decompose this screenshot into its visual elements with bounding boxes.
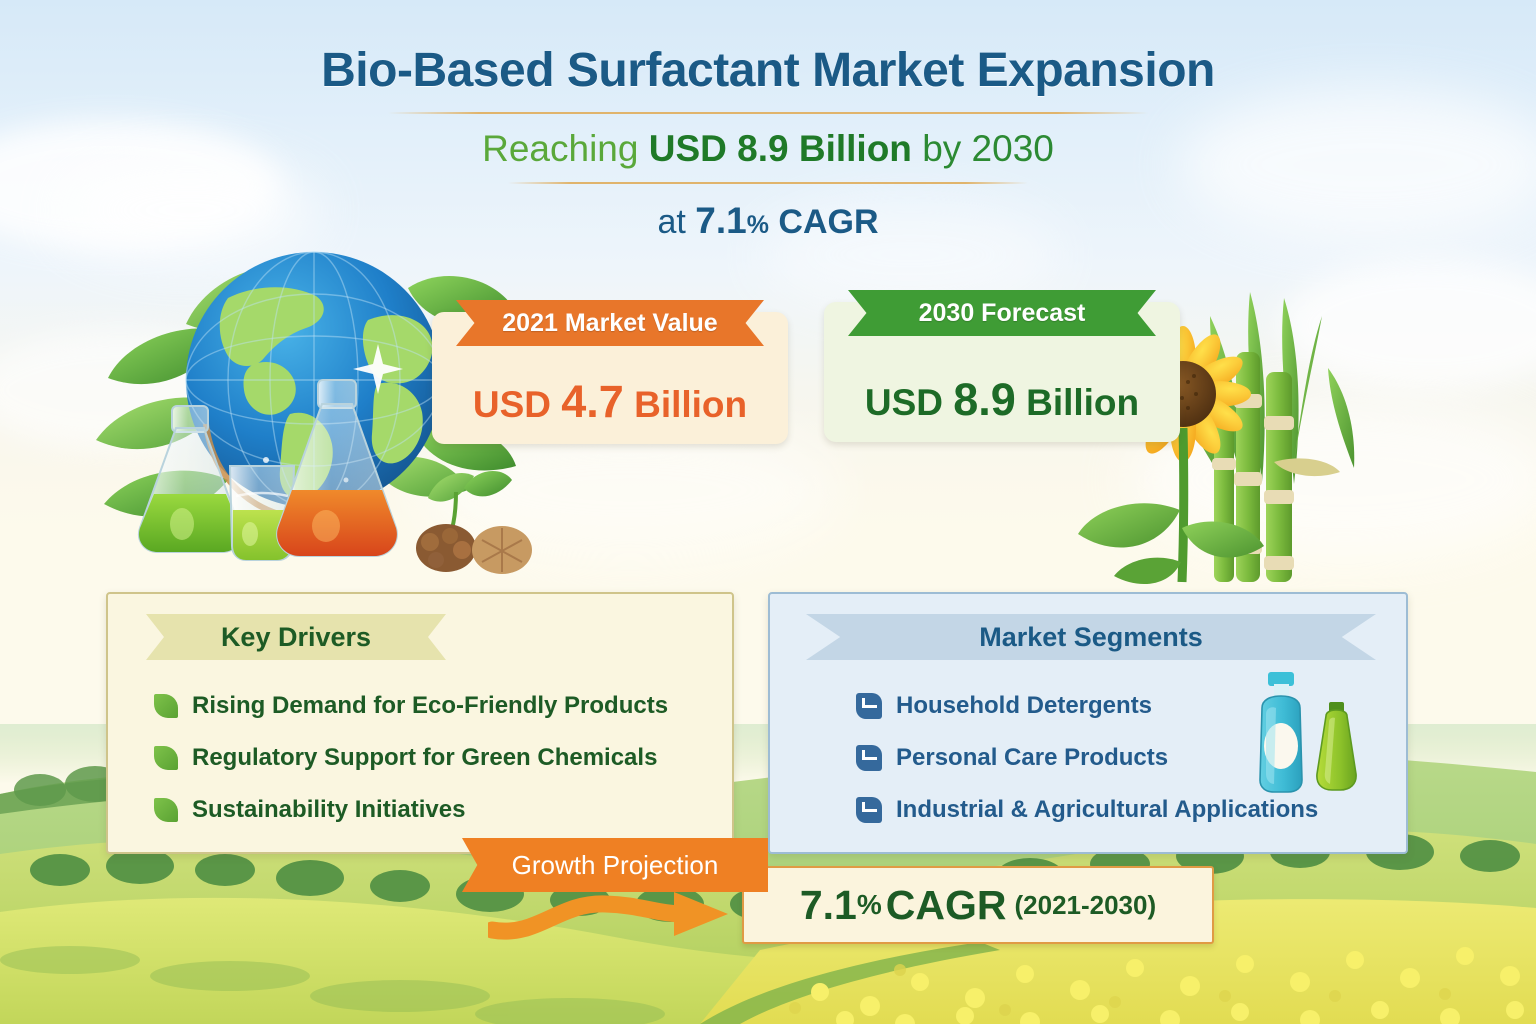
detergent-bottle-icon xyxy=(1260,672,1302,792)
subtitle-value: USD 8.9 Billion xyxy=(649,128,912,169)
list-item: Regulatory Support for Green Chemicals xyxy=(108,732,732,784)
growth-period: (2021-2030) xyxy=(1014,890,1156,921)
card-2030-amount: 8.9 xyxy=(953,374,1016,425)
growth-cagr-percent-sign: % xyxy=(857,889,882,921)
header: Bio-Based Surfactant Market Expansion Re… xyxy=(0,0,1536,242)
market-segment-label: Personal Care Products xyxy=(896,744,1168,772)
key-drivers-panel: Key Drivers Rising Demand for Eco-Friend… xyxy=(106,592,734,854)
list-item: Sustainability Initiatives xyxy=(108,784,732,836)
card-2030-ribbon-label: 2030 Forecast xyxy=(848,290,1156,336)
market-segments-heading: Market Segments xyxy=(806,614,1376,660)
card-2030-unit: Billion xyxy=(1026,382,1139,423)
key-driver-label: Regulatory Support for Green Chemicals xyxy=(192,744,657,772)
card-2030-forecast: 2030 Forecast USD 8.9 Billion xyxy=(824,302,1180,442)
infographic-canvas: Bio-Based Surfactant Market Expansion Re… xyxy=(0,0,1536,1024)
growth-projection-ribbon: Growth Projection xyxy=(462,838,768,892)
card-2021-amount: 4.7 xyxy=(561,376,624,427)
check-bullet-icon xyxy=(856,797,882,823)
cagr-label: CAGR xyxy=(778,203,878,241)
card-2021-currency: USD xyxy=(473,384,551,425)
leaf-bullet-icon xyxy=(154,798,178,822)
page-title: Bio-Based Surfactant Market Expansion xyxy=(0,45,1536,98)
check-bullet-icon xyxy=(856,693,882,719)
divider-rule-bottom xyxy=(508,182,1028,184)
cagr-prefix: at xyxy=(657,203,685,241)
header-cagr-line: at 7.1% CAGR xyxy=(0,200,1536,242)
list-item: Rising Demand for Eco-Friendly Products xyxy=(108,680,732,732)
card-2030-currency: USD xyxy=(865,382,943,423)
key-driver-label: Rising Demand for Eco-Friendly Products xyxy=(192,692,668,720)
key-drivers-heading: Key Drivers xyxy=(146,614,446,660)
card-2030-value: USD 8.9 Billion xyxy=(824,374,1180,426)
cagr-percent-sign: % xyxy=(747,211,769,239)
card-2021-market-value: 2021 Market Value USD 4.7 Billion xyxy=(432,312,788,444)
key-drivers-list: Rising Demand for Eco-Friendly Products … xyxy=(108,680,732,836)
cagr-number: 7.1 xyxy=(695,200,746,241)
market-segment-label: Household Detergents xyxy=(896,692,1152,720)
subtitle: Reaching USD 8.9 Billion by 2030 xyxy=(0,128,1536,171)
growth-cagr-label: CAGR xyxy=(886,882,1007,929)
check-bullet-icon xyxy=(856,745,882,771)
subtitle-tail: by 2030 xyxy=(922,128,1054,169)
card-2021-ribbon-label: 2021 Market Value xyxy=(456,300,764,346)
leaf-bullet-icon xyxy=(154,746,178,770)
growth-cagr-number: 7.1 xyxy=(800,882,857,929)
divider-rule-top xyxy=(388,112,1148,114)
subtitle-lead: Reaching xyxy=(482,128,638,169)
detergent-bottles-illustration xyxy=(1232,668,1382,808)
card-2021-value: USD 4.7 Billion xyxy=(432,376,788,428)
card-2021-unit: Billion xyxy=(634,384,747,425)
leaf-bullet-icon xyxy=(154,694,178,718)
detergent-bottle-icon xyxy=(1317,702,1356,790)
cagr-summary-box: 7.1% CAGR (2021-2030) xyxy=(742,866,1214,944)
key-driver-label: Sustainability Initiatives xyxy=(192,796,465,824)
